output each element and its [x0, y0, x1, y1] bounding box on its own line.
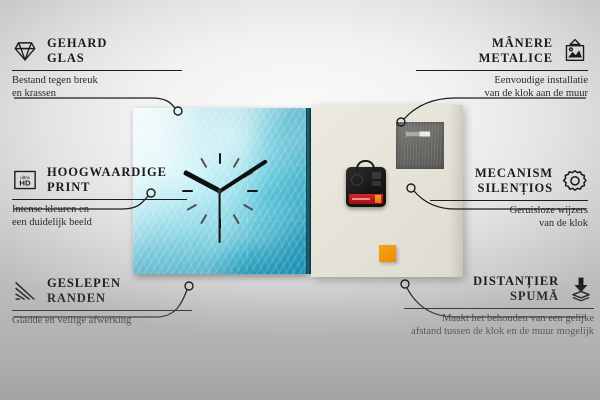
- callout-geslepen-randen[interactable]: GESLEPEN RANDEN Gladde en veilige afwerk…: [12, 276, 192, 327]
- callout-subtitle: Geruisloze wijzers van de klok: [430, 204, 588, 232]
- callout-gehard-glas[interactable]: GEHARD GLAS Bestand tegen breuk en krass…: [12, 36, 182, 101]
- callout-distantier-spuma[interactable]: DISTANȚIER SPUMĂ Maakt het behouden van …: [404, 274, 594, 339]
- mechanism-detail: [372, 172, 381, 179]
- callout-subtitle: Intense kleuren en een duidelijk beeld: [12, 203, 187, 231]
- callout-title: GEHARD GLAS: [47, 36, 107, 67]
- callout-title: MECANISM SILENȚIOS: [475, 166, 553, 197]
- callout-rule: [430, 200, 588, 201]
- svg-text:HD: HD: [19, 179, 31, 188]
- beveled-edges-icon: [12, 278, 38, 304]
- metal-hanger-plate: [396, 122, 444, 169]
- clock-minute-hand: [219, 159, 268, 192]
- clock-center-pin: [217, 189, 222, 194]
- ultra-hd-icon: ultra HD: [12, 167, 38, 193]
- mechanism-dial: [351, 174, 363, 186]
- callout-hoogwaardige-print[interactable]: ultra HD HOOGWAARDIGE PRINT Intense kleu…: [12, 165, 187, 230]
- quartz-mechanism-box: [346, 167, 386, 207]
- callout-rule: [12, 310, 192, 311]
- callout-rule: [12, 70, 182, 71]
- diamond-icon: [12, 38, 38, 64]
- callout-title: DISTANȚIER SPUMĂ: [473, 274, 559, 305]
- callout-rule: [404, 308, 594, 309]
- mechanism-detail: [372, 181, 381, 186]
- callout-title: HOOGWAARDIGE PRINT: [47, 165, 167, 196]
- mechanism-hanging-loop: [356, 160, 375, 171]
- callout-rule: [416, 70, 588, 71]
- callout-subtitle: Bestand tegen breuk en krassen: [12, 74, 182, 102]
- callout-subtitle: Eenvoudige installatie van de klok aan d…: [416, 74, 588, 102]
- wall-frame-icon: [562, 38, 588, 64]
- callout-mecanism-silentios[interactable]: MECANISM SILENȚIOS Geruisloze wijzers va…: [430, 166, 588, 231]
- callout-subtitle: Gladde en veilige afwerking: [12, 314, 192, 328]
- callout-title: MÂNERE METALICE: [479, 36, 553, 67]
- battery: [349, 194, 383, 204]
- foam-spacer: [379, 245, 396, 262]
- hanger-slot: [406, 131, 431, 137]
- infographic-stage: GEHARD GLAS Bestand tegen breuk en krass…: [0, 0, 600, 400]
- callout-title: GESLEPEN RANDEN: [47, 276, 121, 307]
- callout-subtitle: Maakt het behouden van een gelijke afsta…: [404, 312, 594, 340]
- callout-rule: [12, 199, 187, 200]
- gear-icon: [562, 168, 588, 194]
- callout-manere-metalice[interactable]: MÂNERE METALICE Eenvoudige installatie v…: [416, 36, 588, 101]
- clock-second-hand: [219, 191, 221, 243]
- foam-spacer-icon: [568, 276, 594, 302]
